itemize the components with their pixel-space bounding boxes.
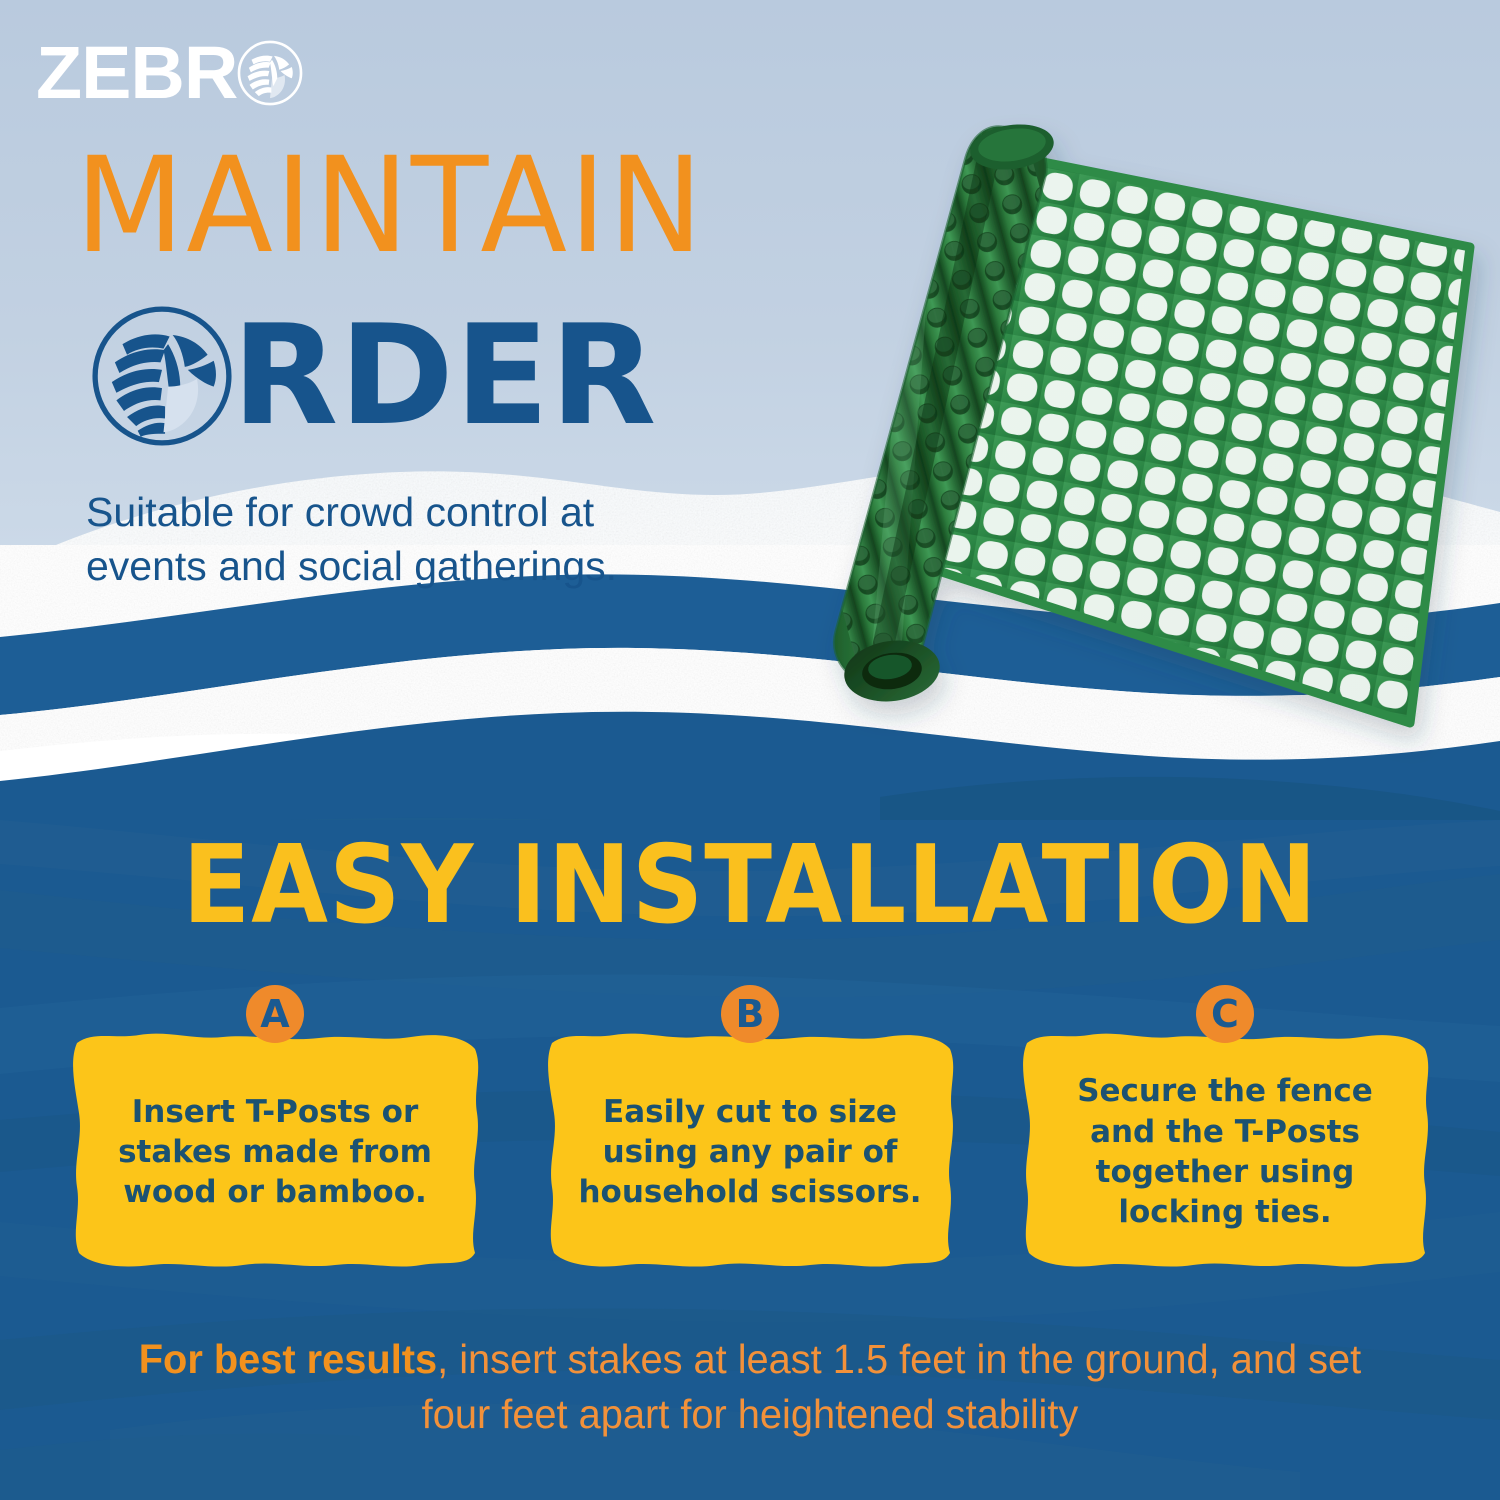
installation-step-b: B Easily cut to size using any pair of h… bbox=[538, 985, 963, 1295]
product-infographic: ZEBR MAINTAIN bbox=[0, 0, 1500, 1500]
installation-step-c: C Secure the fence and the T-Posts toget… bbox=[1013, 985, 1438, 1295]
headline-line-2: RDER bbox=[86, 300, 657, 452]
zebra-head-circle-icon bbox=[86, 300, 238, 452]
headline-line-1: MAINTAIN bbox=[75, 140, 705, 272]
step-badge-c: C bbox=[1196, 985, 1254, 1043]
footer-note-rest: , insert stakes at least 1.5 feet in the… bbox=[422, 1336, 1362, 1437]
step-text-b: Easily cut to size using any pair of hou… bbox=[538, 1013, 963, 1283]
headline-order-text: RDER bbox=[232, 307, 657, 445]
zebra-head-circle-icon bbox=[237, 40, 303, 106]
footer-note: For best results, insert stakes at least… bbox=[23, 1332, 1478, 1442]
product-image-mesh-fence-roll bbox=[770, 95, 1500, 795]
footer-note-lead: For best results bbox=[139, 1336, 437, 1382]
brand-wordmark: ZEBR bbox=[36, 36, 237, 110]
step-badge-a: A bbox=[246, 985, 304, 1043]
installation-steps: A Insert T-Posts or stakes made from woo… bbox=[0, 985, 1500, 1295]
step-card-b: Easily cut to size using any pair of hou… bbox=[538, 1013, 963, 1283]
subhead-text: Suitable for crowd control at events and… bbox=[86, 485, 726, 593]
section-banner-title: EASY INSTALLATION bbox=[60, 832, 1440, 940]
installation-step-a: A Insert T-Posts or stakes made from woo… bbox=[63, 985, 488, 1295]
step-card-c: Secure the fence and the T-Posts togethe… bbox=[1013, 1013, 1438, 1283]
step-text-c: Secure the fence and the T-Posts togethe… bbox=[1013, 1013, 1438, 1283]
step-badge-b: B bbox=[721, 985, 779, 1043]
brand-logo: ZEBR bbox=[38, 36, 303, 110]
step-card-a: Insert T-Posts or stakes made from wood … bbox=[63, 1013, 488, 1283]
step-text-a: Insert T-Posts or stakes made from wood … bbox=[63, 1013, 488, 1283]
